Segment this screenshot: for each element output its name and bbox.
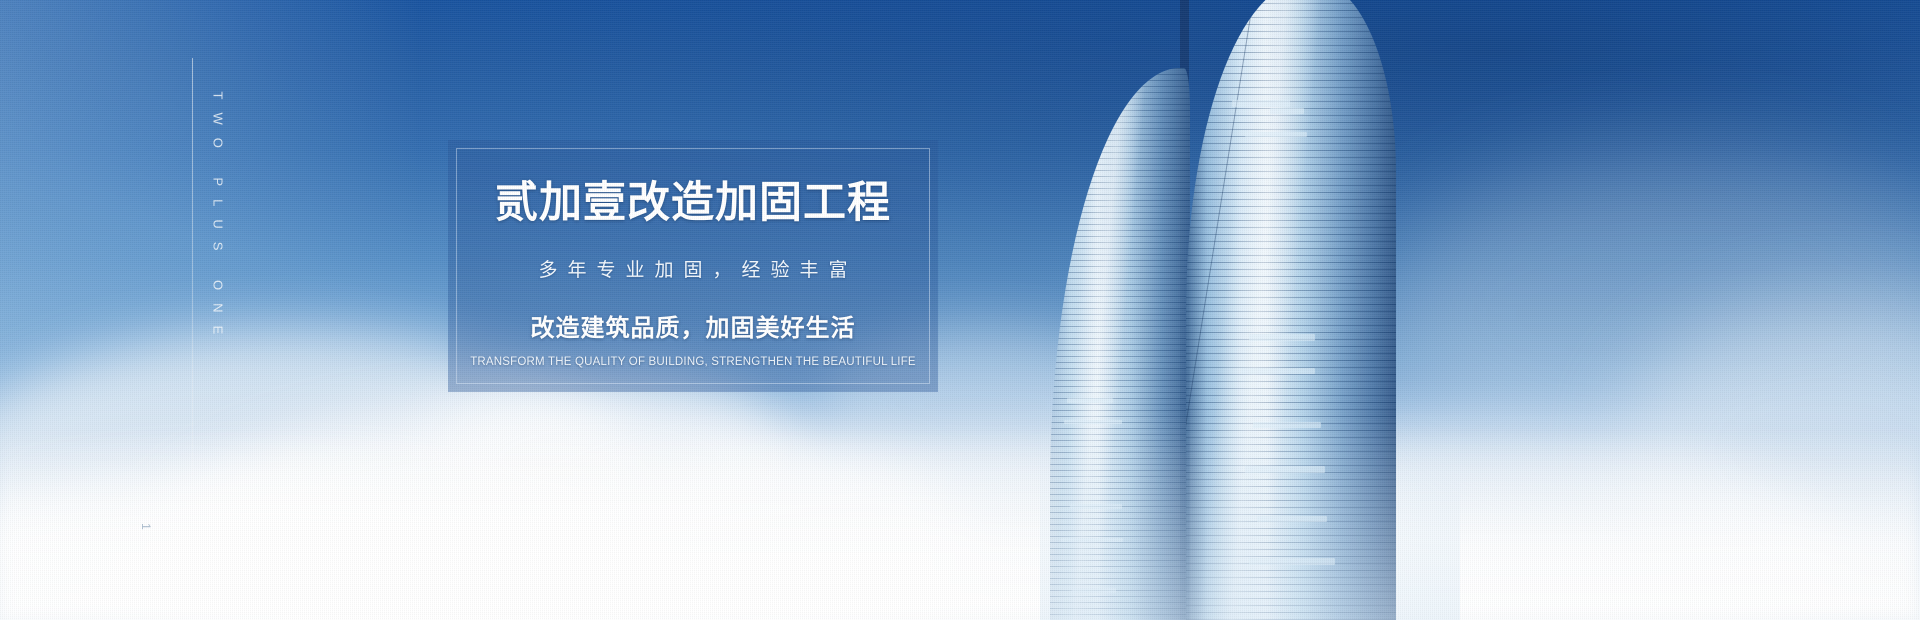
tower-window-light bbox=[1232, 100, 1290, 107]
brand-page-number: 1 bbox=[139, 523, 153, 531]
tower-window-light bbox=[1241, 368, 1315, 374]
tower-window-light bbox=[1067, 398, 1113, 403]
tower-window-light bbox=[1245, 132, 1307, 137]
hero-subtitle: 多年专业加固，经验丰富 bbox=[528, 255, 857, 282]
brand-divider-line bbox=[192, 58, 193, 578]
tower-window-light bbox=[1270, 108, 1304, 114]
skyscraper-group bbox=[1040, 0, 1460, 620]
hero-tagline: 改造建筑品质，加固美好生活 bbox=[531, 308, 856, 343]
hero-english-caption: TRANSFORM THE QUALITY OF BUILDING, STREN… bbox=[470, 356, 916, 368]
panel-content: 贰加壹改造加固工程 多年专业加固，经验丰富 改造建筑品质，加固美好生活 TRAN… bbox=[448, 140, 938, 392]
tower-base-fog bbox=[1040, 410, 1460, 620]
hero-text-panel: 贰加壹改造加固工程 多年专业加固，经验丰富 改造建筑品质，加固美好生活 TRAN… bbox=[448, 140, 938, 392]
hero-title: 贰加壹改造加固工程 bbox=[495, 182, 891, 225]
tower-window-light bbox=[1249, 334, 1315, 341]
hero-banner: TWO PLUS ONE 1 贰加壹改造加固工程 多年专业加固，经验丰富 改造建… bbox=[0, 0, 1920, 620]
brand-vertical-text: TWO PLUS ONE bbox=[211, 92, 226, 392]
brand-vertical-mark: TWO PLUS ONE 1 bbox=[180, 58, 290, 578]
